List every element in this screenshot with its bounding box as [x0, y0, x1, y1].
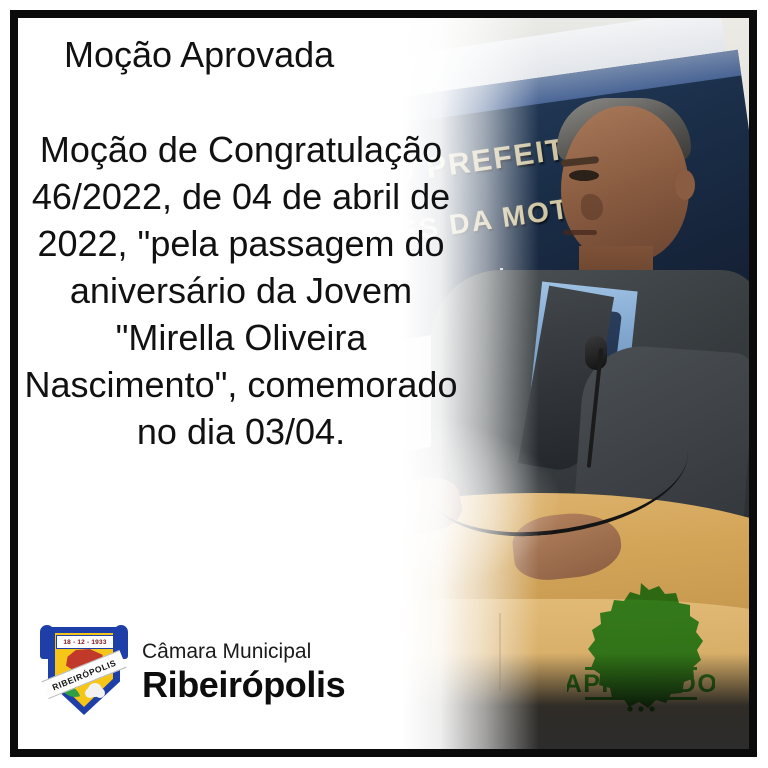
crest-date-banner: 18 - 12 - 1933	[56, 635, 114, 649]
stamp-label-rule-bottom	[585, 697, 697, 700]
page-title: Moção Aprovada	[64, 34, 334, 76]
crest-date-text: 18 - 12 - 1933	[63, 639, 106, 646]
poster-frame: ÁRIO PREFEITO VARES DA MOTA ★ ★ ★ ★	[10, 10, 757, 757]
approved-stamp: APROVADO	[567, 581, 715, 729]
subject-head	[561, 106, 689, 262]
photo-bottom-fade	[349, 409, 559, 599]
subject-mouth	[563, 230, 597, 235]
moção-aprovada-poster: ÁRIO PREFEITO VARES DA MOTA ★ ★ ★ ★	[0, 0, 768, 768]
footer-text-block: Câmara Municipal Ribeirópolis	[142, 639, 345, 705]
crest-cotton-icon	[88, 683, 102, 697]
stamp-dots	[627, 706, 654, 711]
coat-of-arms-icon: 18 - 12 - 1933 RIBEIRÓPOLIS	[40, 621, 128, 723]
stamp-label: APROVADO	[567, 670, 715, 698]
subject-eye	[569, 170, 599, 181]
subject-ear	[675, 170, 695, 200]
photo-left-fade	[349, 18, 539, 749]
footer-branding: 18 - 12 - 1933 RIBEIRÓPOLIS Câmara Munic…	[40, 617, 345, 727]
city-name: Ribeirópolis	[142, 665, 345, 705]
poster-canvas: ÁRIO PREFEITO VARES DA MOTA ★ ★ ★ ★	[18, 18, 749, 749]
subject-nose	[581, 194, 603, 220]
microphone-icon	[585, 336, 607, 370]
institution-name: Câmara Municipal	[142, 639, 345, 665]
